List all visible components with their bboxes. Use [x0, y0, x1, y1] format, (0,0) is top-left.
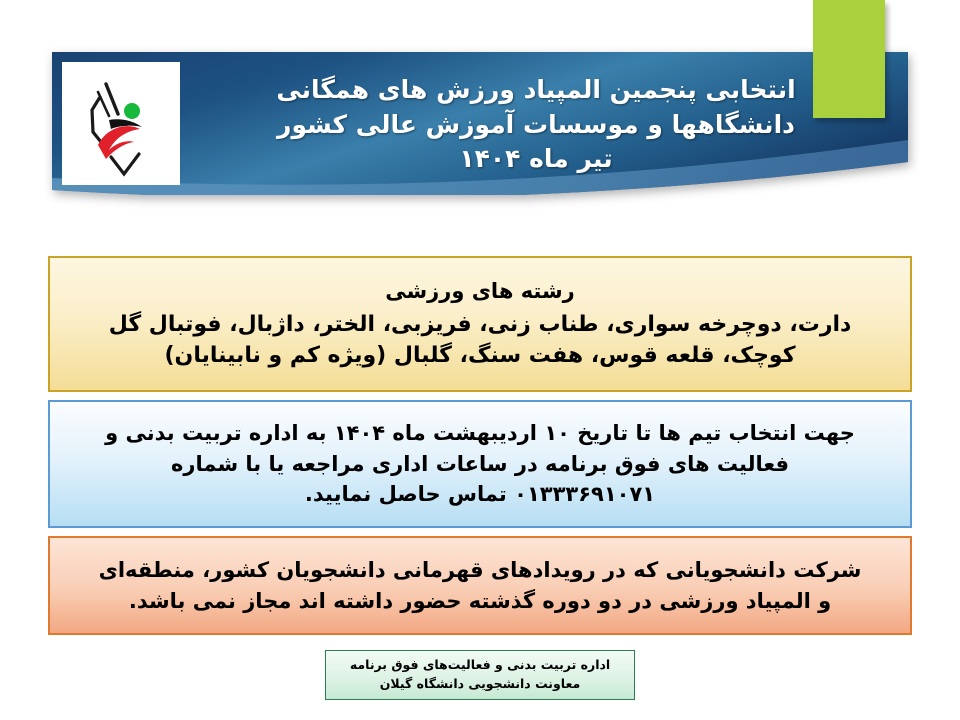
restriction-line-1: شرکت دانشجویانی که در رویدادهای قهرمانی … [99, 555, 862, 586]
restriction-line-2: و المپیاد ورزشی در دو دوره گذشته حضور دا… [129, 586, 831, 617]
sports-box-line-2: کوچک، قلعه قوس، هفت سنگ، گلبال (ویژه کم … [164, 340, 795, 371]
athlete-figure-icon [62, 62, 180, 185]
poster-title: انتخابی پنجمین المپیاد ورزش های همگانی د… [186, 55, 886, 195]
organization-logo [62, 62, 180, 185]
registration-line-3-phone: ۰۱۳۳۳۶۹۱۰۷۱ تماس حاصل نمایید. [305, 479, 655, 509]
logo-head-dot [124, 103, 140, 119]
poster-canvas: انتخابی پنجمین المپیاد ورزش های همگانی د… [0, 0, 960, 720]
header-zone: انتخابی پنجمین المپیاد ورزش های همگانی د… [0, 0, 960, 240]
poster-title-line-1: انتخابی پنجمین المپیاد ورزش های همگانی [276, 73, 795, 108]
poster-title-line-3: تیر ماه ۱۴۰۴ [459, 142, 612, 177]
footer-line-2: معاونت دانشجویی دانشگاه گیلان [380, 675, 581, 694]
registration-line-1: جهت انتخاب تیم ها تا تاریخ ۱۰ اردیبهشت م… [105, 418, 855, 448]
registration-info-box: جهت انتخاب تیم ها تا تاریخ ۱۰ اردیبهشت م… [48, 400, 912, 528]
sports-disciplines-box: رشته های ورزشی دارت، دوچرخه سواری، طناب … [48, 256, 912, 392]
eligibility-restriction-box: شرکت دانشجویانی که در رویدادهای قهرمانی … [48, 536, 912, 635]
sports-box-line-1: دارت، دوچرخه سواری، طناب زنی، فریزبی، ال… [109, 309, 852, 340]
footer-line-1: اداره تربیت بدنی و فعالیت‌های فوق برنامه [350, 656, 610, 675]
sports-box-heading: رشته های ورزشی [385, 277, 575, 307]
issuing-department-footer: اداره تربیت بدنی و فعالیت‌های فوق برنامه… [325, 650, 635, 700]
poster-title-line-2: دانشگاهها و موسسات آموزش عالی کشور [277, 108, 795, 143]
registration-line-2: فعالیت های فوق برنامه در ساعات اداری مرا… [171, 449, 789, 479]
